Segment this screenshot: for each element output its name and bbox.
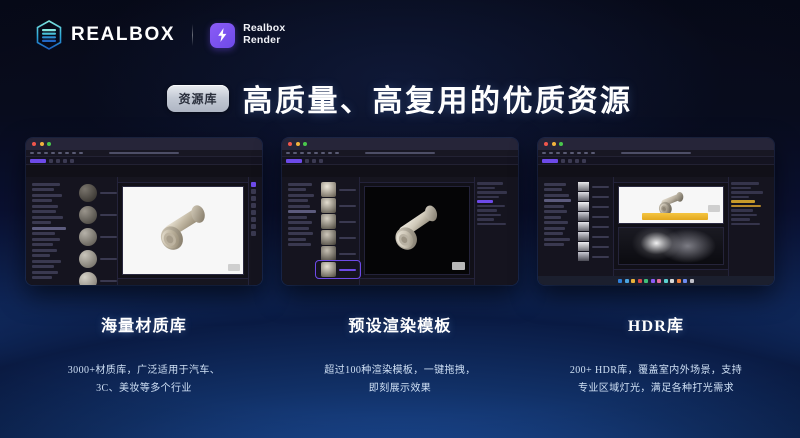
app-body [26,150,262,285]
viewport-tabs [360,177,474,183]
maximize-icon [559,142,563,146]
viewport-canvas[interactable] [122,186,244,275]
render-viewport[interactable] [614,177,728,276]
scene-tree[interactable] [282,177,318,252]
watermark-logo [228,264,240,271]
viewport-statusbar [614,269,728,276]
list-item[interactable] [317,214,359,229]
list-item[interactable] [573,182,613,191]
material-tree[interactable] [26,177,72,285]
hdr-thumbnail-list[interactable] [573,179,613,274]
close-icon [288,142,292,146]
hdr-sidebar[interactable] [538,177,614,276]
list-item[interactable] [317,198,359,213]
app-body [282,150,518,285]
feature-title: HDR库 [538,312,774,336]
properties-panel[interactable] [474,177,518,285]
product-name-line1: Realbox [243,22,285,34]
feature-list: 海量材质库 3000+材质库，广泛适用于汽车、 3C、美妆等多个行业 预设渲染模… [0,312,800,397]
hdr-environment-preview [619,228,723,264]
materials-library-screenshot[interactable] [26,138,262,285]
list-item[interactable] [317,230,359,245]
workspace [282,177,518,285]
feature-description-line1: 200+ HDR库，覆盖室内外场景，支持 [570,365,742,376]
viewport-statusbar [118,278,248,285]
active-tool-chip[interactable] [542,159,558,163]
minimize-icon [40,142,44,146]
hdr-library-screenshot[interactable] [538,138,774,285]
section-badge: 资源库 [167,85,228,112]
watermark-logo [452,262,465,270]
feature-description: 超过100种渲染模板，一键拖拽， 即刻展示效果 [282,362,518,397]
feature-description-line2: 专业区域灯光，满足各种打光需求 [578,383,734,394]
templates-sidebar[interactable] [282,177,360,285]
app-toolbar [26,157,262,165]
feature-title: 海量材质库 [26,312,262,336]
screenshot-gallery [0,138,800,285]
material-sphere-list[interactable] [73,179,117,283]
brand-wordmark: REALBOX [71,24,175,46]
feature-description: 3000+材质库，广泛适用于汽车、 3C、美妆等多个行业 [26,362,262,397]
active-tool-chip[interactable] [30,159,46,163]
app-body [538,150,774,285]
viewport-tabs [614,177,728,183]
lighting-properties-panel[interactable] [728,177,774,276]
lightning-bolt-icon [210,23,235,48]
hdr-highlight-strip [642,213,709,220]
window-titlebar [282,138,518,150]
list-item[interactable] [573,192,613,201]
viewport-canvas[interactable] [618,186,724,224]
list-item[interactable] [73,204,117,225]
close-icon [32,142,36,146]
maximize-icon [303,142,307,146]
header-divider [192,24,193,46]
maximize-icon [47,142,51,146]
slide-root: REALBOX Realbox Render 资源库 高质量、高复用的优质资源 [0,0,800,438]
template-thumbnail-list[interactable] [317,179,359,283]
minimize-icon [296,142,300,146]
list-item[interactable] [573,202,613,211]
minimize-icon [552,142,556,146]
app-menubar [282,150,518,157]
feature-templates: 预设渲染模板 超过100种渲染模板，一键拖拽， 即刻展示效果 [282,312,518,397]
product-name: Realbox Render [243,23,285,47]
list-item-selected[interactable] [317,262,359,277]
viewport-statusbar [360,278,474,285]
list-item[interactable] [317,246,359,261]
headphones-render [123,187,243,274]
list-item[interactable] [317,182,359,197]
realbox-logo-lockup: REALBOX [36,20,175,50]
watermark-logo [708,205,720,212]
viewport-tabs [118,177,248,183]
document-title-bar [621,152,691,154]
right-toolrail[interactable] [248,177,262,285]
headline-row: 资源库 高质量、高复用的优质资源 [0,76,800,120]
feature-hdr: HDR库 200+ HDR库，覆盖室内外场景，支持 专业区域灯光，满足各种打光需… [538,312,774,397]
list-item[interactable] [73,248,117,269]
list-item[interactable] [573,222,613,231]
app-toolbar [538,157,774,165]
render-templates-screenshot[interactable] [282,138,518,285]
document-title-bar [109,152,179,154]
list-item[interactable] [573,242,613,251]
viewport-canvas[interactable] [364,186,470,275]
headphones-render [365,187,469,274]
realbox-hex-layers-icon [36,20,62,50]
feature-description-line1: 3000+材质库，广泛适用于汽车、 [68,365,220,376]
feature-description-line1: 超过100种渲染模板，一键拖拽， [324,365,475,376]
list-item[interactable] [573,212,613,221]
feature-description: 200+ HDR库，覆盖室内外场景，支持 专业区域灯光，满足各种打光需求 [538,362,774,397]
active-tool-chip[interactable] [286,159,302,163]
workspace [538,177,774,276]
render-viewport[interactable] [360,177,474,285]
render-viewport[interactable] [118,177,248,285]
list-item[interactable] [573,232,613,241]
hdr-preview-panel[interactable] [618,227,724,265]
windows-taskbar[interactable] [538,276,774,285]
page-title: 高质量、高复用的优质资源 [243,76,633,120]
realbox-render-lockup: Realbox Render [210,23,285,48]
app-menubar [538,150,774,157]
product-name-line2: Render [243,34,280,46]
materials-sidebar[interactable] [26,177,118,285]
list-item[interactable] [73,182,117,203]
brand-header: REALBOX Realbox Render [36,20,285,50]
feature-description-line2: 即刻展示效果 [369,383,431,394]
feature-materials: 海量材质库 3000+材质库，广泛适用于汽车、 3C、美妆等多个行业 [26,312,262,397]
list-item[interactable] [73,270,117,285]
workspace [26,177,262,285]
feature-description-line2: 3C、美妆等多个行业 [96,383,192,394]
app-toolbar [282,157,518,165]
close-icon [544,142,548,146]
list-item[interactable] [573,252,613,261]
app-menubar [26,150,262,157]
document-title-bar [365,152,435,154]
window-titlebar [538,138,774,150]
list-item[interactable] [73,226,117,247]
hdr-tree[interactable] [538,177,572,252]
feature-title: 预设渲染模板 [282,312,518,336]
window-titlebar [26,138,262,150]
